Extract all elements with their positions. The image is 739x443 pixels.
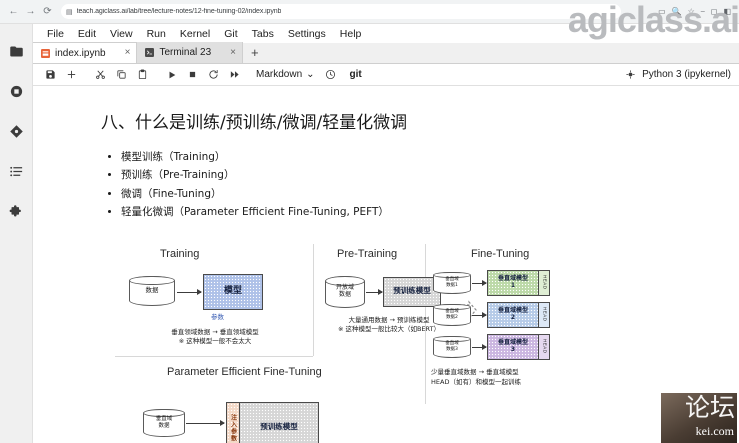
cell-type-value: Markdown	[256, 69, 302, 80]
concept-list: 模型训练（Training） 预训练（Pre-Training） 微调（Fine…	[121, 148, 739, 222]
finetuning-caption-2: HEAD（如有）和模型一起训练	[431, 378, 521, 388]
menu-file[interactable]: File	[40, 27, 71, 41]
finetuning-title: Fine-Tuning	[471, 248, 529, 260]
cast-icon[interactable]: ▭	[658, 8, 666, 16]
run-icon[interactable]	[162, 65, 181, 84]
browser-action-icons: ▭ 🔍 ☆ ⎯ ◻ ◧	[658, 8, 733, 16]
training-data-cylinder: 数据	[129, 276, 175, 306]
finetuning-head-strip-2: HEAD	[539, 302, 550, 328]
cut-icon[interactable]	[91, 65, 110, 84]
history-icon[interactable]	[321, 65, 340, 84]
finetuning-model-box-1: 垂直域模型 1	[487, 270, 539, 296]
finetuning-data-cylinder-2: 垂直域 数据2	[433, 304, 471, 326]
notebook-icon	[41, 49, 50, 58]
bookmark-star-icon[interactable]: ☆	[688, 8, 695, 16]
menu-settings[interactable]: Settings	[281, 27, 333, 41]
arrow	[472, 283, 486, 284]
git-icon[interactable]	[5, 120, 27, 142]
peft-data-cylinder: 垂直域 数据	[143, 409, 185, 437]
peft-model-box: 预训练模型	[239, 402, 319, 443]
tab-terminal-23[interactable]: Terminal 23 ×	[137, 42, 243, 63]
training-title: Training	[160, 248, 199, 260]
profile-icon[interactable]: ◻	[711, 8, 718, 16]
finetuning-head-strip-1: HEAD	[539, 270, 550, 296]
list-item: 轻量化微调（Parameter Efficient Fine-Tuning, P…	[121, 203, 739, 221]
finetuning-model-box-2: 垂直域模型 2	[487, 302, 539, 328]
restart-run-all-icon[interactable]	[225, 65, 244, 84]
jupyterlab-window: File Edit View Run Kernel Git Tabs Setti…	[0, 24, 739, 443]
notebook-toolbar: Markdown ⌄ git Python 3 (ipykernel)	[33, 64, 739, 86]
notebook-content[interactable]: 八、什么是训练/预训练/微调/轻量化微调 模型训练（Training） 预训练（…	[33, 86, 739, 443]
kernel-name[interactable]: Python 3 (ipykernel)	[642, 69, 731, 80]
menu-help[interactable]: Help	[333, 27, 369, 41]
menu-tabs[interactable]: Tabs	[245, 27, 281, 41]
training-caption-2: ※ 这种模型一般不会太大	[125, 337, 305, 347]
copy-icon[interactable]	[112, 65, 131, 84]
url-text: teach.agiclass.ai/lab/tree/lecture-notes…	[77, 8, 282, 15]
finetuning-caption-1: 少量垂直域数据 → 垂直域模型	[431, 368, 519, 378]
reload-icon[interactable]: ⟳	[40, 4, 55, 19]
close-icon[interactable]: ×	[230, 48, 236, 58]
tab-label: index.ipynb	[55, 48, 106, 59]
menu-git[interactable]: Git	[217, 27, 244, 41]
zoom-icon[interactable]: 🔍	[672, 8, 682, 16]
browser-toolbar: ← → ⟳ ▤ teach.agiclass.ai/lab/tree/lectu…	[0, 0, 739, 24]
cell-type-select[interactable]: Markdown ⌄	[252, 69, 319, 80]
pretraining-data-cylinder: 开放域 数据	[325, 276, 365, 308]
stop-icon[interactable]	[183, 65, 202, 84]
address-bar[interactable]: ▤ teach.agiclass.ai/lab/tree/lecture-not…	[61, 4, 621, 19]
peft-inject-strip: 注入参数	[226, 402, 239, 443]
file-browser-icon[interactable]	[5, 40, 27, 62]
jupyter-activity-bar	[0, 24, 33, 443]
divider	[313, 244, 314, 356]
pretraining-caption-2: ※ 这种模型一般比较大（如BERT）	[319, 325, 459, 335]
extension-manager-icon[interactable]	[5, 200, 27, 222]
git-toolbar-label[interactable]: git	[350, 69, 362, 80]
menu-run[interactable]: Run	[140, 27, 173, 41]
page-title: 八、什么是训练/预训练/微调/轻量化微调	[101, 112, 739, 134]
divider	[115, 356, 313, 357]
training-model-box: 模型	[203, 274, 263, 310]
restart-kernel-icon[interactable]	[204, 65, 223, 84]
training-concepts-diagram: Training 数据 模型 参数 垂直领域数据 → 垂直领域模型 ※ 这种模型…	[115, 244, 615, 443]
arrow	[366, 292, 382, 293]
markdown-cell[interactable]: 八、什么是训练/预训练/微调/轻量化微调 模型训练（Training） 预训练（…	[33, 86, 739, 443]
site-info-icon[interactable]: ▤	[66, 8, 73, 16]
finetuning-model-box-3: 垂直域模型 3	[487, 334, 539, 360]
menu-view[interactable]: View	[103, 27, 140, 41]
close-icon[interactable]: ×	[125, 48, 131, 58]
menu-edit[interactable]: Edit	[71, 27, 103, 41]
tab-index-ipynb[interactable]: index.ipynb ×	[33, 42, 137, 63]
finetuning-head-strip-3: HEAD	[539, 334, 550, 360]
table-of-contents-icon[interactable]	[5, 160, 27, 182]
arrow	[472, 315, 486, 316]
back-arrow-icon[interactable]: ←	[6, 4, 21, 19]
terminal-icon	[145, 48, 154, 57]
list-item: 模型训练（Training）	[121, 148, 739, 166]
list-item: 预训练（Pre-Training）	[121, 166, 739, 184]
finetuning-data-cylinder-1: 垂直域 数据1	[433, 272, 471, 294]
menu-kernel[interactable]: Kernel	[173, 27, 217, 41]
arrow	[472, 347, 486, 348]
training-param-label: 参数	[211, 313, 224, 323]
pretraining-title: Pre-Training	[337, 248, 397, 260]
add-cell-icon[interactable]	[62, 65, 81, 84]
screenshot-root: ← → ⟳ ▤ teach.agiclass.ai/lab/tree/lectu…	[0, 0, 739, 443]
chevron-down-icon: ⌄	[306, 69, 314, 80]
tab-label: Terminal 23	[159, 47, 211, 58]
jupyter-menubar: File Edit View Run Kernel Git Tabs Setti…	[33, 24, 739, 43]
kernel-busy-icon[interactable]	[626, 66, 635, 84]
extension-icon[interactable]: ⎯	[701, 8, 705, 16]
save-icon[interactable]	[41, 65, 60, 84]
running-terminals-icon[interactable]	[5, 80, 27, 102]
finetuning-data-cylinder-3: 垂直域 数据3	[433, 336, 471, 358]
forward-arrow-icon[interactable]: →	[23, 4, 38, 19]
jupyter-tabbar: index.ipynb × Terminal 23 × +	[33, 43, 739, 64]
new-tab-button[interactable]: +	[243, 42, 267, 63]
toolbar-right-group: Python 3 (ipykernel)	[626, 66, 739, 84]
peft-title: Parameter Efficient Fine-Tuning	[167, 366, 322, 378]
paste-icon[interactable]	[133, 65, 152, 84]
arrow	[177, 292, 201, 293]
menu-icon[interactable]: ◧	[723, 8, 731, 16]
arrow	[186, 423, 224, 424]
list-item: 微调（Fine-Tuning）	[121, 185, 739, 203]
